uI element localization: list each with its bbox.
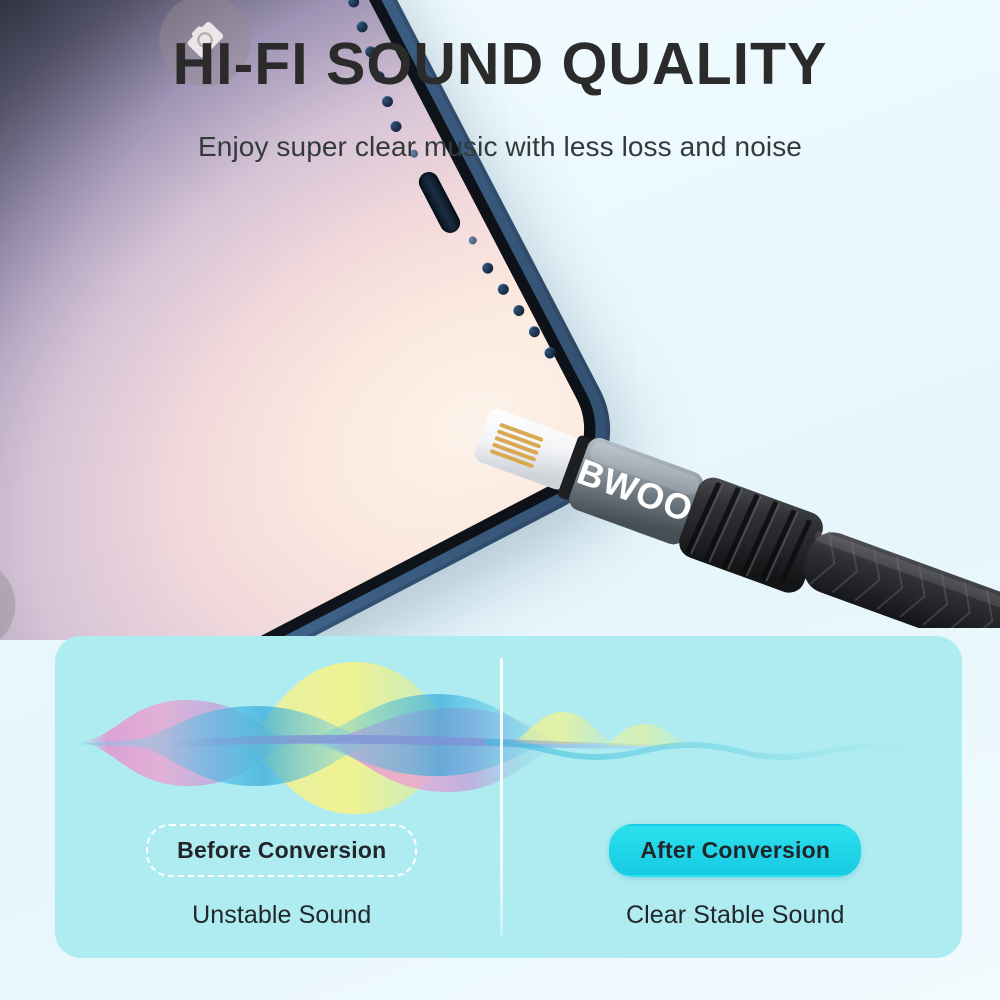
product-marketing-image: BWOO ® [0,0,1000,1000]
before-conversion-badge[interactable]: Before Conversion [146,824,417,877]
after-conversion-badge[interactable]: After Conversion [609,824,861,877]
page-title: HI-FI SOUND QUALITY [0,34,1000,96]
column-before: Before Conversion Unstable Sound [55,824,509,930]
lightning-port [415,169,463,237]
before-conversion-sublabel: Unstable Sound [192,901,371,930]
column-after: After Conversion Clear Stable Sound [509,824,963,930]
after-conversion-sublabel: Clear Stable Sound [626,901,845,930]
page-subtitle: Enjoy super clear music with less loss a… [0,131,1000,163]
comparison-panel: Before Conversion Unstable Sound After C… [55,636,962,958]
lightning-cable: BWOO ® [465,398,1000,628]
audio-waveform [55,644,962,814]
comparison-columns: Before Conversion Unstable Sound After C… [55,824,962,930]
